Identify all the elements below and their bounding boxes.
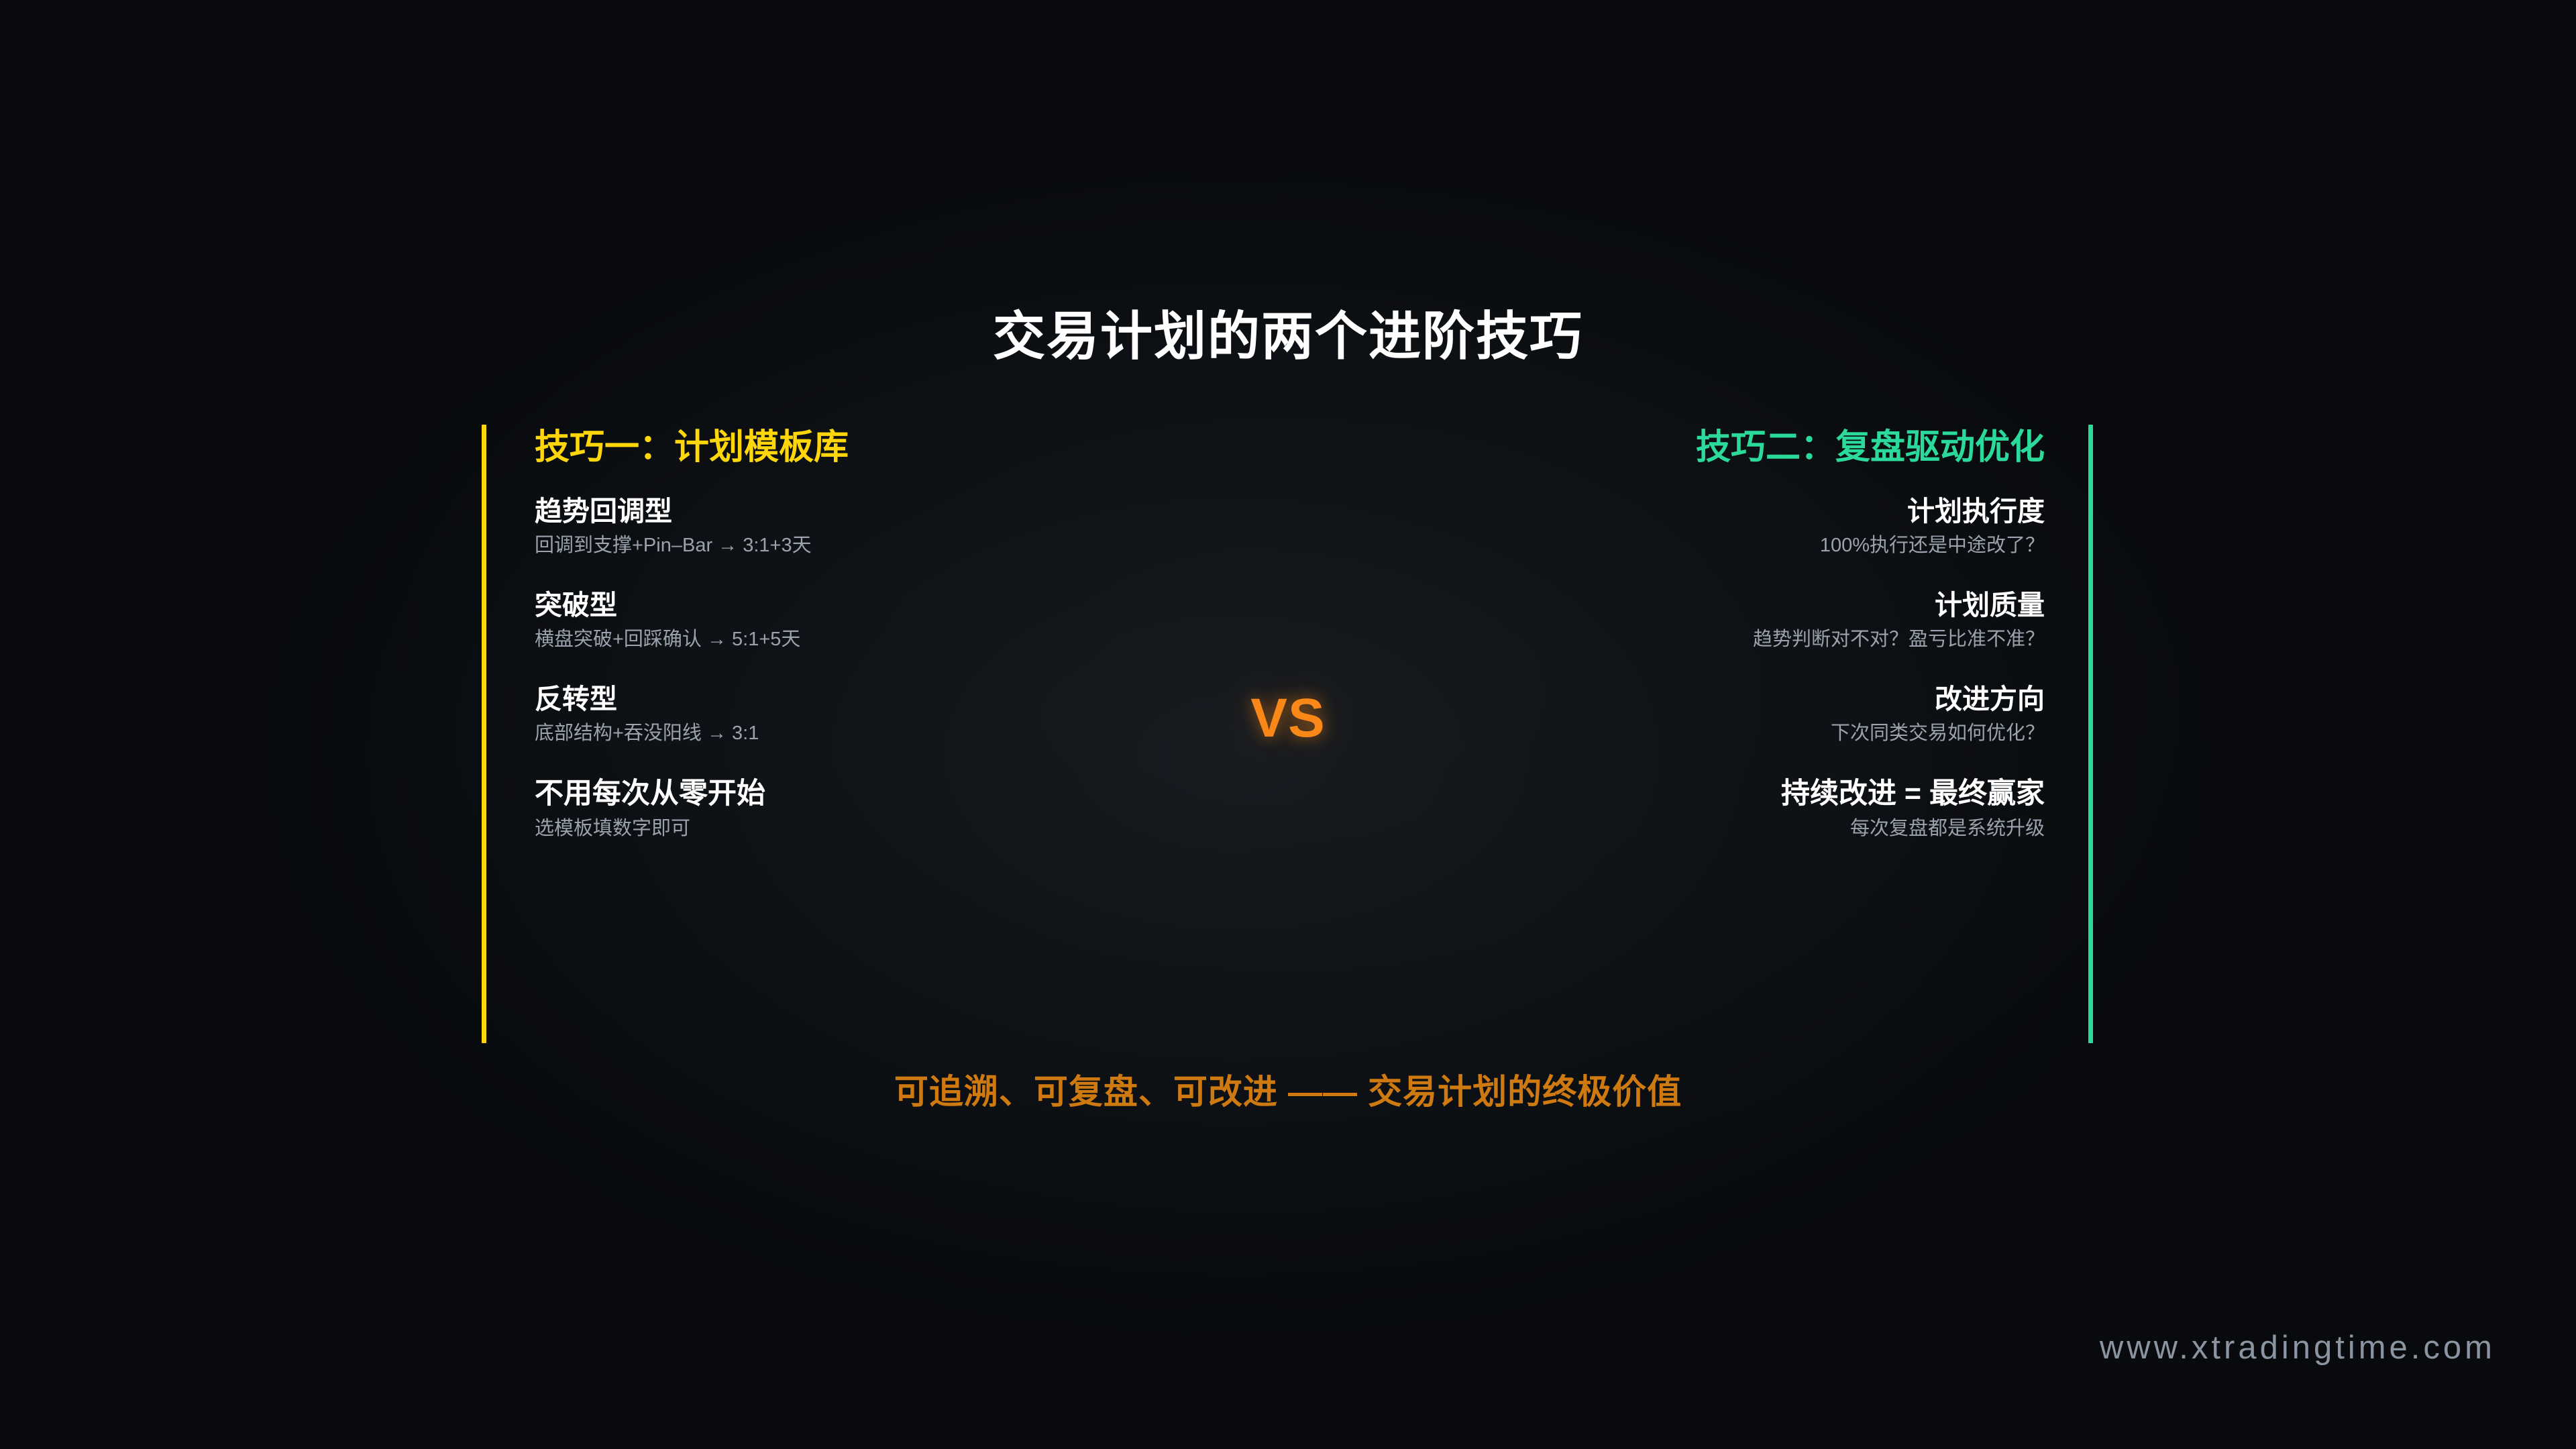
item-title: 趋势回调型 bbox=[535, 496, 1165, 527]
right-accent-bar bbox=[2088, 425, 2093, 1043]
item-subtitle: 底部结构+吞没阳线 → 3:1 bbox=[535, 723, 1165, 745]
list-item: 趋势回调型 回调到支撑+Pin–Bar → 3:1+3天 bbox=[535, 496, 1165, 557]
tagline: 可追溯、可复盘、可改进 —— 交易计划的终极价值 bbox=[0, 1075, 2576, 1109]
item-title: 计划执行度 bbox=[1414, 496, 2045, 527]
right-column: 技巧二：复盘驱动优化 计划执行度 100%执行还是中途改了？ 计划质量 趋势判断… bbox=[1409, 425, 2093, 1043]
item-subtitle: 100%执行还是中途改了？ bbox=[1414, 535, 2045, 557]
right-column-body: 技巧二：复盘驱动优化 计划执行度 100%执行还是中途改了？ 计划质量 趋势判断… bbox=[1414, 425, 2045, 1043]
item-title: 突破型 bbox=[535, 590, 1165, 621]
item-subtitle: 横盘突破+回踩确认 → 5:1+5天 bbox=[535, 629, 1165, 651]
left-column-items: 趋势回调型 回调到支撑+Pin–Bar → 3:1+3天 突破型 横盘突破+回踩… bbox=[535, 496, 1165, 840]
list-item: 突破型 横盘突破+回踩确认 → 5:1+5天 bbox=[535, 590, 1165, 651]
item-subtitle: 下次同类交易如何优化？ bbox=[1414, 723, 2045, 745]
item-title: 改进方向 bbox=[1414, 684, 2045, 714]
item-title: 不用每次从零开始 bbox=[535, 778, 1165, 810]
left-column-body: 技巧一：计划模板库 趋势回调型 回调到支撑+Pin–Bar → 3:1+3天 突… bbox=[535, 425, 1165, 1043]
footer-url: www.xtradingtime.com bbox=[2100, 1332, 2495, 1364]
list-item: 持续改进 = 最终赢家 每次复盘都是系统升级 bbox=[1414, 778, 2045, 840]
list-item: 计划执行度 100%执行还是中途改了？ bbox=[1414, 496, 2045, 557]
right-column-items: 计划执行度 100%执行还是中途改了？ 计划质量 趋势判断对不对？盈亏比准不准？… bbox=[1414, 496, 2045, 840]
right-column-header: 技巧二：复盘驱动优化 bbox=[1414, 425, 2045, 465]
item-title: 持续改进 = 最终赢家 bbox=[1414, 778, 2045, 810]
left-column-header: 技巧一：计划模板库 bbox=[535, 425, 1165, 465]
slide-root: 交易计划的两个进阶技巧 技巧一：计划模板库 趋势回调型 回调到支撑+Pin–Ba… bbox=[0, 0, 2576, 1449]
left-accent-bar bbox=[482, 425, 486, 1043]
list-item: 计划质量 趋势判断对不对？盈亏比准不准？ bbox=[1414, 590, 2045, 651]
item-title: 计划质量 bbox=[1414, 590, 2045, 621]
vs-badge: VS bbox=[1100, 691, 1476, 746]
item-subtitle: 每次复盘都是系统升级 bbox=[1414, 818, 2045, 840]
list-item: 反转型 底部结构+吞没阳线 → 3:1 bbox=[535, 684, 1165, 745]
list-item: 改进方向 下次同类交易如何优化？ bbox=[1414, 684, 2045, 745]
item-subtitle: 回调到支撑+Pin–Bar → 3:1+3天 bbox=[535, 535, 1165, 557]
left-column: 技巧一：计划模板库 趋势回调型 回调到支撑+Pin–Bar → 3:1+3天 突… bbox=[482, 425, 1166, 1043]
item-title: 反转型 bbox=[535, 684, 1165, 714]
item-subtitle: 选模板填数字即可 bbox=[535, 818, 1165, 840]
list-item: 不用每次从零开始 选模板填数字即可 bbox=[535, 778, 1165, 840]
item-subtitle: 趋势判断对不对？盈亏比准不准？ bbox=[1414, 629, 2045, 651]
